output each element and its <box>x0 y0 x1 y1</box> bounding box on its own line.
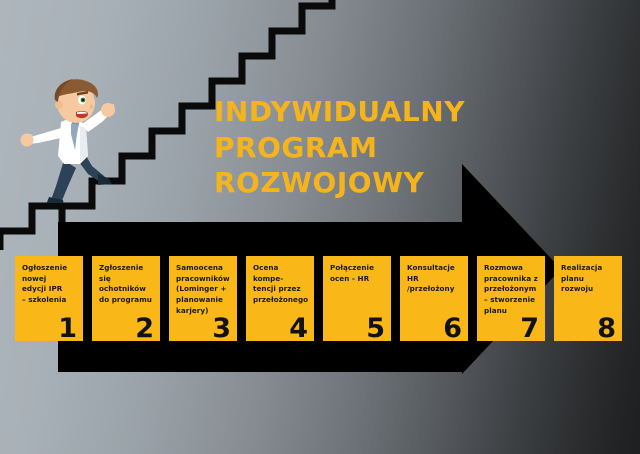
step-label-1: Ogłoszenie nowej edycji IPR – szkolenia <box>22 263 77 306</box>
step-number-5: 5 <box>366 315 385 342</box>
step-number-3: 3 <box>212 315 231 342</box>
process-arrow-shape <box>0 0 640 454</box>
step-box-1[interactable]: Ogłoszenie nowej edycji IPR – szkolenia … <box>15 256 83 341</box>
page-title: INDYWIDUALNY PROGRAM ROZWOJOWY <box>214 94 514 201</box>
step-number-6: 6 <box>443 315 462 342</box>
step-box-5[interactable]: Połączenie ocen - HR 5 <box>323 256 391 341</box>
infographic-canvas: INDYWIDUALNY PROGRAM ROZWOJOWY Ogłoszeni… <box>0 0 640 454</box>
step-label-2: Zgłoszenie się ochotników do programu <box>99 263 154 306</box>
step-number-1: 1 <box>58 315 77 342</box>
title-line-1: INDYWIDUALNY <box>214 94 514 130</box>
step-label-5: Połączenie ocen - HR <box>330 263 385 284</box>
step-box-3[interactable]: Samoocena pracowników (Lominger + planow… <box>169 256 237 341</box>
step-number-7: 7 <box>520 315 539 342</box>
title-line-2: PROGRAM <box>214 130 514 166</box>
step-label-8: Realizacja planu rozwoju <box>561 263 616 295</box>
step-box-6[interactable]: Konsultacje HR /przełożony 6 <box>400 256 468 341</box>
step-label-4: Ocena kompe- tencji przez przełożonego <box>253 263 308 306</box>
step-number-4: 4 <box>289 315 308 342</box>
step-number-8: 8 <box>597 315 616 342</box>
step-box-2[interactable]: Zgłoszenie się ochotników do programu 2 <box>92 256 160 341</box>
process-steps-row: Ogłoszenie nowej edycji IPR – szkolenia … <box>15 256 633 341</box>
step-box-8[interactable]: Realizacja planu rozwoju 8 <box>554 256 622 341</box>
step-number-2: 2 <box>135 315 154 342</box>
step-box-4[interactable]: Ocena kompe- tencji przez przełożonego 4 <box>246 256 314 341</box>
step-label-3: Samoocena pracowników (Lominger + planow… <box>176 263 231 316</box>
step-label-7: Rozmowa pracownika z przełożonym – stwor… <box>484 263 539 316</box>
step-box-7[interactable]: Rozmowa pracownika z przełożonym – stwor… <box>477 256 545 341</box>
step-label-6: Konsultacje HR /przełożony <box>407 263 462 295</box>
title-line-3: ROZWOJOWY <box>214 165 514 201</box>
